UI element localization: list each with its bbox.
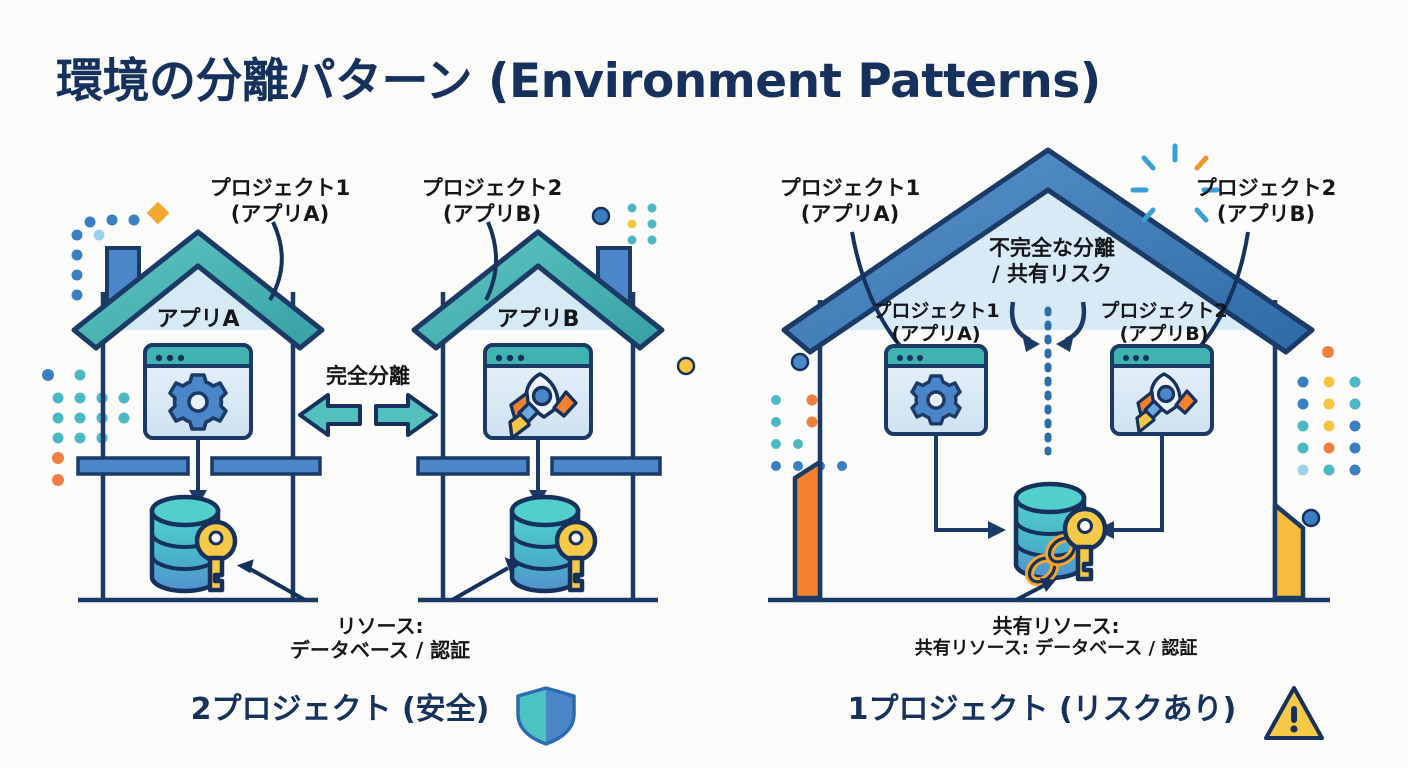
shared-left-top-label: プロジェクト1 (アプリA) bbox=[780, 176, 921, 227]
house-b-top-label: プロジェクト2 (アプリB) bbox=[422, 176, 563, 227]
shield-icon bbox=[518, 688, 574, 744]
diagram-canvas: 環境の分離パターン (Environment Patterns) プロジェクト1… bbox=[0, 0, 1408, 768]
shared-inner-right-label: プロジェクト2 (アプリB) bbox=[1100, 300, 1227, 346]
decor-dots-rightpanel-left bbox=[771, 354, 847, 471]
app-window-shared-left bbox=[886, 346, 1006, 539]
floor-slab-b-right bbox=[552, 458, 660, 474]
house-a bbox=[74, 222, 322, 600]
decor-dots-rightpanel-right bbox=[1298, 346, 1361, 526]
app-b-label: アプリB bbox=[497, 307, 580, 334]
floor-slab-a-left bbox=[78, 458, 188, 474]
warning-triangle-icon bbox=[1266, 688, 1322, 738]
gear-icon bbox=[170, 375, 226, 429]
risk-label: 不完全な分離 / 共有リスク bbox=[989, 236, 1115, 287]
resource-caption: リソース: データベース / 認証 bbox=[290, 614, 470, 663]
floor-slab-b-left bbox=[418, 458, 528, 474]
arrow-left-icon bbox=[300, 395, 360, 435]
arrow-right-icon bbox=[376, 395, 436, 435]
database-a bbox=[152, 497, 235, 591]
gear-icon bbox=[912, 376, 960, 424]
house-a-top-label: プロジェクト1 (アプリA) bbox=[210, 176, 351, 227]
page-title: 環境の分離パターン (Environment Patterns) bbox=[56, 42, 1101, 111]
database-b bbox=[512, 497, 595, 591]
leader-b bbox=[452, 568, 508, 600]
app-window-b bbox=[485, 345, 591, 506]
app-a-label: アプリA bbox=[156, 307, 239, 334]
house-b bbox=[414, 222, 662, 600]
app-window-a bbox=[145, 345, 251, 506]
shared-resource-caption: 共有リソース: 共有リソース: データベース / 認証 bbox=[915, 614, 1198, 660]
database-shared bbox=[1016, 484, 1105, 587]
right-caption: 1プロジェクト (リスクあり) bbox=[848, 692, 1237, 729]
separation-label: 完全分離 bbox=[326, 364, 410, 390]
wall-panel-orange bbox=[795, 462, 820, 598]
shared-inner-left-label: プロジェクト1 (アプリA) bbox=[872, 300, 999, 346]
shared-right-top-label: プロジェクト2 (アプリB) bbox=[1196, 176, 1337, 227]
wall-panel-yellow bbox=[1275, 505, 1303, 598]
separation-arrows bbox=[300, 395, 436, 435]
floor-slab-a-right bbox=[212, 458, 320, 474]
leader-a bbox=[243, 565, 305, 600]
decor-diamond-orange bbox=[147, 202, 170, 225]
app-window-shared-right bbox=[1096, 346, 1212, 539]
left-caption: 2プロジェクト (安全) bbox=[191, 692, 490, 729]
